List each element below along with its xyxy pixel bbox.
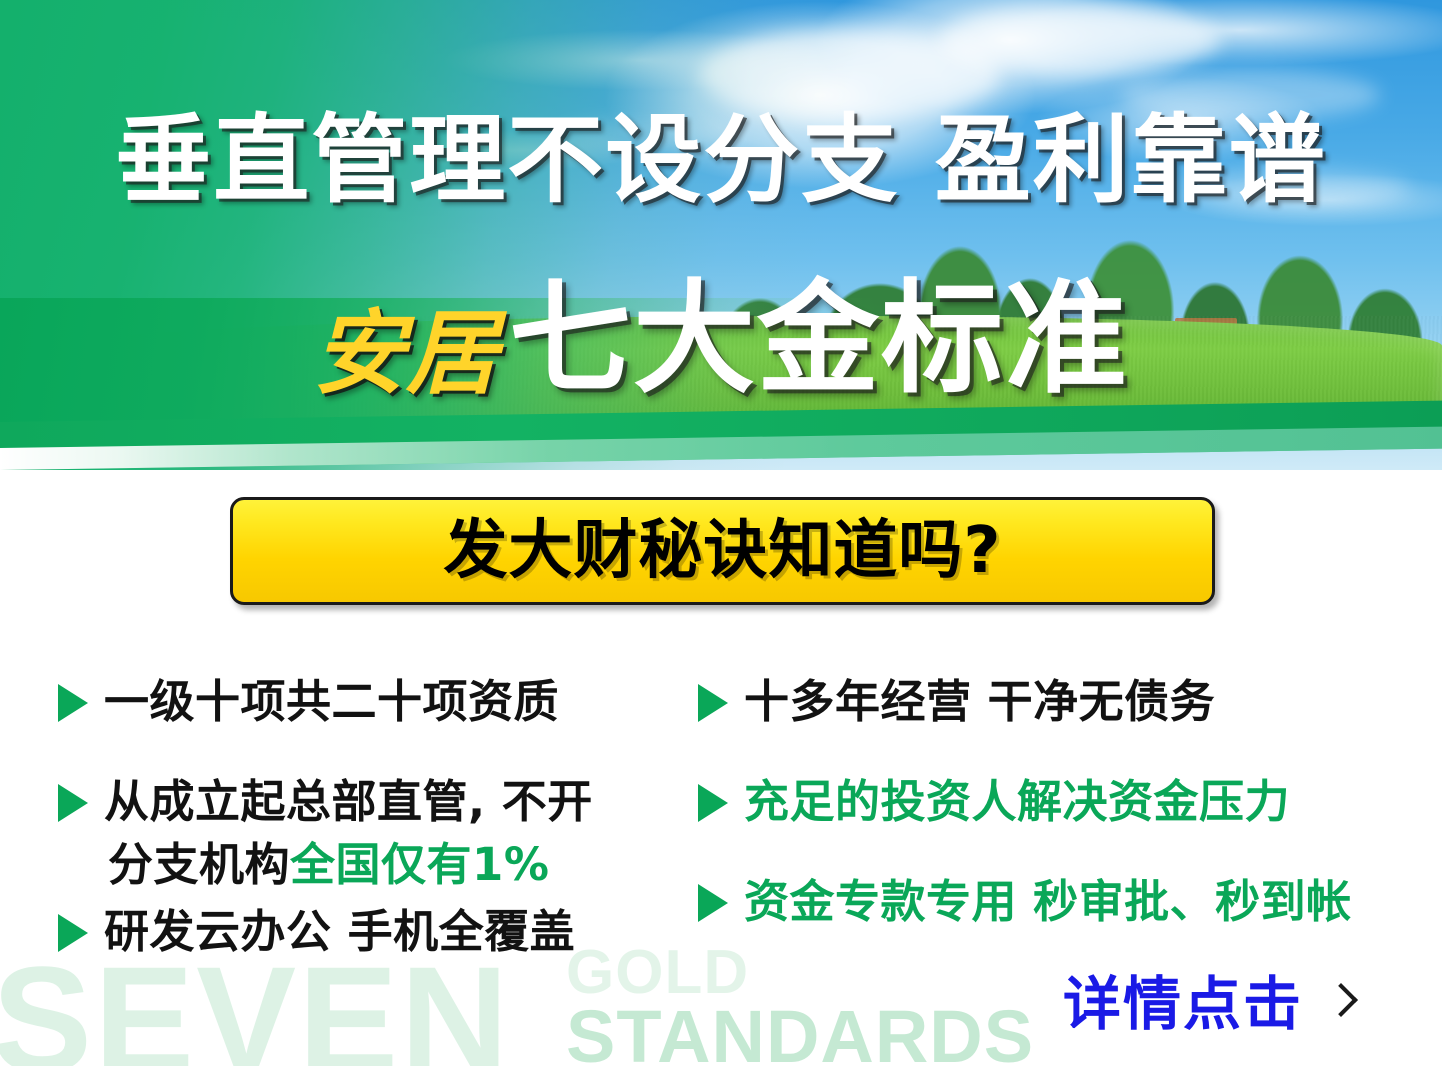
feature-item-left-3: 研发云办公 手机全覆盖: [58, 900, 575, 963]
feature-item-right-1: 十多年经营 干净无债务: [698, 670, 1215, 733]
feature-label-left-2-line2: 分支机构全国仅有1%: [104, 833, 593, 896]
advertisement-banner: 垂直管理不设分支 盈利靠谱 安居七大金标准 SEVEN GOLD STANDAR…: [0, 0, 1442, 1066]
triangle-bullet-icon: [698, 684, 728, 722]
hero-section: 垂直管理不设分支 盈利靠谱 安居七大金标准: [0, 0, 1442, 470]
chevron-right-icon: [1327, 982, 1349, 1026]
feature-label-right-3: 资金专款专用 秒审批、秒到帐: [744, 870, 1352, 933]
triangle-bullet-icon: [58, 784, 88, 822]
feature-item-left-2: 从成立起总部直管, 不开 分支机构全国仅有1%: [58, 770, 593, 896]
feature-label-left-2-line1: 从成立起总部直管, 不开: [104, 775, 593, 828]
hero-headline-main: 七大金标准: [509, 278, 1129, 400]
hero-headline-secondary: 安居七大金标准: [0, 278, 1442, 400]
triangle-bullet-icon: [698, 784, 728, 822]
highlight-banner-label: 发大财秘诀知道吗?: [443, 519, 1001, 583]
feature-label-right-1: 十多年经营 干净无债务: [744, 670, 1215, 733]
feature-label-left-2-line2-plain: 分支机构: [108, 838, 290, 891]
details-cta-button[interactable]: 详情点击: [1063, 975, 1349, 1033]
highlight-banner[interactable]: 发大财秘诀知道吗?: [230, 497, 1215, 605]
hero-brand-word: 安居: [313, 308, 499, 400]
feature-label-left-1: 一级十项共二十项资质: [104, 670, 559, 733]
feature-label-right-2: 充足的投资人解决资金压力: [744, 770, 1290, 833]
feature-label-left-3: 研发云办公 手机全覆盖: [104, 900, 575, 963]
feature-item-right-3: 资金专款专用 秒审批、秒到帐: [698, 870, 1352, 933]
triangle-bullet-icon: [698, 884, 728, 922]
features-section: 一级十项共二十项资质 从成立起总部直管, 不开 分支机构全国仅有1% 研发云办公…: [0, 650, 1442, 980]
watermark-standards: STANDARDS: [566, 1000, 1034, 1066]
details-cta-label: 详情点击: [1063, 975, 1303, 1033]
hero-headline-primary: 垂直管理不设分支 盈利靠谱: [0, 112, 1442, 208]
triangle-bullet-icon: [58, 684, 88, 722]
feature-item-left-1: 一级十项共二十项资质: [58, 670, 559, 733]
feature-label-left-2: 从成立起总部直管, 不开 分支机构全国仅有1%: [104, 770, 593, 896]
triangle-bullet-icon: [58, 914, 88, 952]
feature-label-left-2-highlight: 全国仅有1%: [290, 838, 549, 891]
feature-item-right-2: 充足的投资人解决资金压力: [698, 770, 1290, 833]
